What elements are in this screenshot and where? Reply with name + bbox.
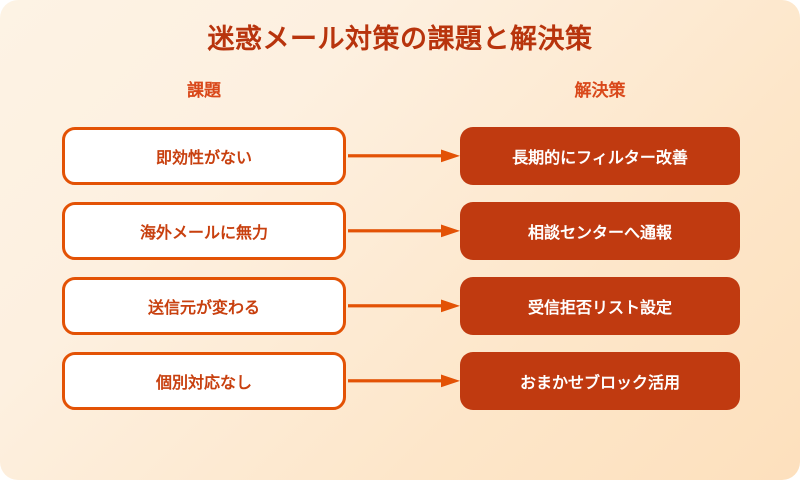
diagram-row: 海外メールに無力 相談センターへ通報	[0, 202, 800, 260]
solution-box: おまかせブロック活用	[460, 352, 740, 410]
column-header-solution: 解決策	[460, 80, 740, 102]
diagram-row: 即効性がない 長期的にフィルター改善	[0, 127, 800, 185]
page-title: 迷惑メール対策の課題と解決策	[0, 22, 800, 56]
diagram-row: 個別対応なし おまかせブロック活用	[0, 352, 800, 410]
arrow-right-icon	[348, 149, 460, 163]
problem-box: 送信元が変わる	[62, 277, 346, 335]
arrow-right-icon	[348, 374, 460, 388]
arrow-right-icon	[348, 299, 460, 313]
column-header-problem: 課題	[62, 80, 346, 102]
problem-box: 海外メールに無力	[62, 202, 346, 260]
solution-box: 長期的にフィルター改善	[460, 127, 740, 185]
problem-box: 即効性がない	[62, 127, 346, 185]
problem-box: 個別対応なし	[62, 352, 346, 410]
diagram-canvas: 迷惑メール対策の課題と解決策 課題 解決策 即効性がない 長期的にフィルター改善…	[0, 0, 800, 480]
diagram-row: 送信元が変わる 受信拒否リスト設定	[0, 277, 800, 335]
solution-box: 受信拒否リスト設定	[460, 277, 740, 335]
solution-box: 相談センターへ通報	[460, 202, 740, 260]
arrow-right-icon	[348, 224, 460, 238]
